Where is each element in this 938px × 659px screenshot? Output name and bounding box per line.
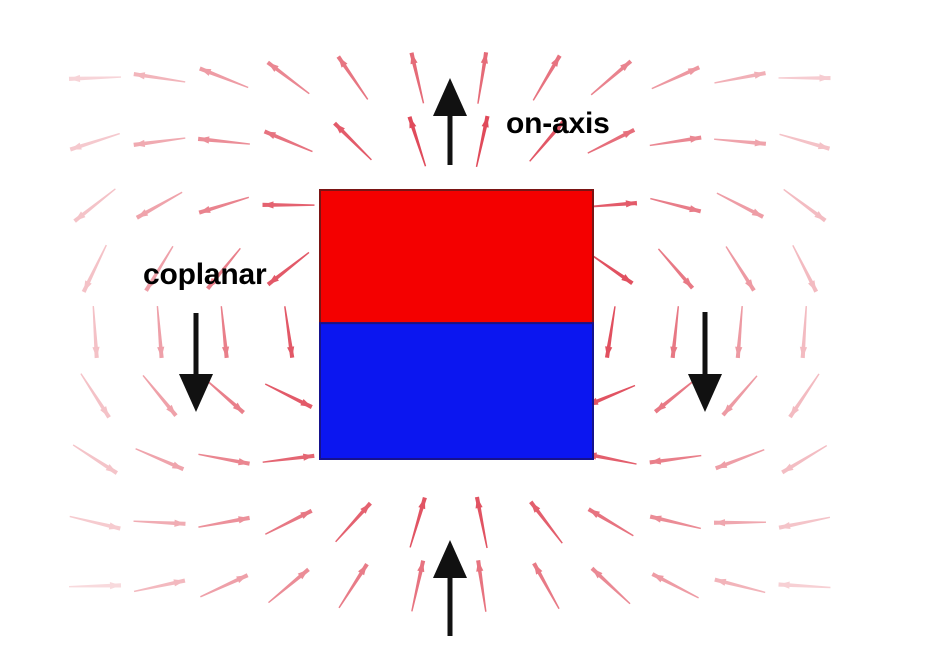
field-arrow: [588, 507, 634, 536]
field-arrow: [591, 60, 632, 96]
field-arrow-head: [715, 579, 727, 586]
field-arrow: [714, 519, 766, 526]
field-arrow: [199, 197, 250, 215]
field-arrow: [714, 578, 765, 594]
field-arrow: [407, 116, 426, 166]
field-arrow-head: [110, 582, 121, 589]
field-arrow: [133, 72, 185, 83]
field-arrow: [654, 379, 696, 414]
field-arrow: [476, 116, 490, 167]
field-arrow-head: [265, 131, 277, 139]
field-arrow: [135, 448, 184, 471]
field-arrow: [783, 189, 826, 222]
on-axis-label: on-axis: [506, 107, 610, 141]
field-arrow: [778, 582, 830, 589]
field-arrow-head: [689, 205, 701, 212]
field-arrow: [714, 71, 766, 84]
field-arrow: [198, 454, 250, 466]
field-arrow: [409, 52, 424, 103]
field-arrow: [73, 188, 116, 222]
field-arrow: [650, 515, 701, 530]
field-arrow: [265, 383, 313, 409]
field-arrow: [532, 562, 560, 609]
field-arrow: [476, 560, 486, 612]
magnet-south-pole: [320, 323, 593, 459]
field-arrow: [221, 306, 230, 358]
field-arrow: [779, 134, 830, 151]
field-arrow: [652, 65, 701, 89]
field-arrow-head: [200, 68, 212, 75]
field-arrow: [70, 133, 120, 152]
field-arrow: [725, 246, 755, 291]
field-arrow: [69, 582, 121, 589]
field-arrow: [781, 445, 827, 474]
field-arrow: [133, 137, 185, 147]
field-arrow: [533, 55, 562, 101]
field-arrow: [335, 502, 372, 543]
field-arrow: [651, 572, 698, 598]
field-vector-plot: [0, 0, 938, 659]
field-arrow: [670, 306, 679, 358]
field-arrow: [69, 75, 121, 82]
field-arrow: [262, 201, 314, 208]
field-arrow: [333, 122, 372, 161]
field-arrow: [715, 449, 765, 470]
on-axis-arrow-bottom: [433, 540, 467, 636]
field-arrow-head: [808, 280, 816, 291]
field-arrow-head: [172, 462, 184, 470]
coplanar-arrow-right: [688, 312, 722, 412]
bar-magnet: [320, 190, 593, 459]
magnetic-field-figure: on-axis coplanar: [0, 0, 938, 659]
field-arrow: [338, 563, 368, 608]
arrow-head: [433, 78, 467, 116]
field-arrow: [409, 497, 426, 548]
arrow-head: [433, 540, 467, 578]
field-arrow: [157, 306, 165, 358]
field-arrow: [717, 192, 764, 218]
field-arrow: [82, 245, 107, 293]
field-arrow-head: [409, 117, 416, 129]
field-arrow: [337, 55, 369, 99]
field-arrow: [649, 455, 701, 465]
field-arrow: [714, 138, 766, 146]
field-arrow: [477, 52, 488, 104]
field-arrow: [264, 129, 313, 152]
field-arrow: [134, 579, 185, 593]
coplanar-label: coplanar: [143, 258, 266, 292]
field-arrow: [198, 136, 250, 144]
field-arrow: [199, 67, 248, 89]
field-arrow: [650, 135, 702, 146]
field-arrow-head: [819, 74, 830, 81]
field-arrow-head: [69, 75, 80, 82]
field-arrow: [268, 568, 310, 603]
field-arrow: [792, 245, 818, 293]
field-arrow: [266, 61, 309, 94]
field-arrow-head: [84, 280, 92, 291]
magnet-north-pole: [320, 190, 593, 323]
field-arrow-head: [418, 498, 425, 510]
field-arrow: [591, 567, 631, 604]
field-arrow: [721, 375, 757, 416]
field-arrow: [198, 516, 250, 528]
field-arrow: [133, 520, 185, 527]
field-arrow: [284, 306, 294, 358]
field-arrow: [267, 252, 310, 286]
field-arrow-head: [236, 575, 248, 583]
field-arrow-head: [70, 143, 82, 150]
arrow-head: [179, 374, 213, 412]
field-arrow: [605, 306, 616, 358]
field-arrow: [475, 497, 488, 549]
field-arrow: [92, 306, 99, 358]
field-arrow: [80, 373, 111, 418]
field-arrow-head: [818, 142, 830, 149]
field-arrow: [136, 192, 183, 220]
field-arrow-head: [300, 399, 311, 407]
field-arrow: [529, 501, 563, 544]
field-arrow: [658, 248, 694, 289]
field-arrow: [70, 516, 121, 531]
coplanar-arrow-left: [179, 313, 213, 412]
field-arrow: [265, 509, 313, 535]
field-arrow: [263, 454, 315, 463]
field-arrow: [650, 198, 701, 213]
field-arrow: [589, 253, 633, 285]
field-arrow: [735, 306, 743, 358]
field-arrow-head: [688, 67, 700, 75]
field-arrow: [142, 375, 177, 417]
field-arrow-head: [716, 461, 728, 468]
field-arrow: [73, 444, 118, 474]
field-arrow: [779, 517, 830, 530]
field-arrow-head: [623, 130, 634, 138]
field-arrow: [200, 573, 248, 597]
field-arrow-head: [714, 519, 725, 526]
field-arrow-head: [199, 206, 211, 213]
field-arrow: [204, 378, 245, 414]
field-arrow: [788, 374, 819, 419]
field-arrow-head: [650, 516, 662, 523]
field-arrow: [800, 306, 807, 358]
field-arrow-head: [300, 511, 311, 519]
field-arrow-head: [263, 201, 274, 208]
on-axis-arrow-top: [433, 78, 467, 165]
field-arrow-head: [411, 53, 418, 65]
field-arrow: [778, 74, 830, 81]
field-arrow: [411, 560, 425, 611]
arrow-head: [688, 374, 722, 412]
field-arrow-head: [109, 522, 121, 529]
